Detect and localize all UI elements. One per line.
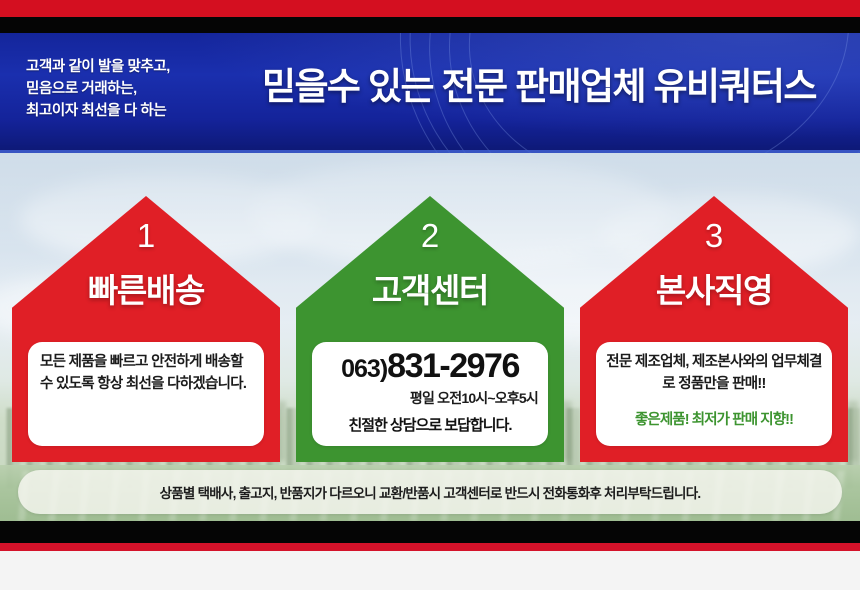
card-heading: 고객센터 — [296, 270, 564, 312]
phone-number[interactable]: 063)831-2976 — [312, 347, 548, 386]
card-highlight-text: 좋은제품! 최저가 판매 지향!! — [596, 408, 832, 429]
card-number: 1 — [12, 218, 280, 254]
card-number: 3 — [580, 218, 848, 254]
phone-area-code: 063) — [341, 355, 387, 383]
card-heading: 본사직영 — [580, 270, 848, 312]
card-reply-text: 친절한 상담으로 보답합니다. — [312, 414, 548, 435]
card-content-box: 모든 제품을 빠르고 안전하게 배송할 수 있도록 항상 최선을 다하겠습니다. — [28, 342, 264, 446]
notice-bar: 상품별 택배사, 출고지, 반품지가 다르오니 교환/반품시 고객센터로 반드시… — [18, 470, 842, 514]
phone-main-number: 831-2976 — [387, 347, 519, 385]
card-content-box: 전문 제조업체, 제조본사와의 업무체결로 정품만을 판매!! 좋은제품! 최저… — [596, 342, 832, 446]
card-number: 2 — [296, 218, 564, 254]
notice-text: 상품별 택배사, 출고지, 반품지가 다르오니 교환/반품시 고객센터로 반드시… — [18, 470, 842, 514]
bottom-padding — [0, 551, 860, 590]
feature-card-fast-delivery: 1 빠른배송 모든 제품을 빠르고 안전하게 배송할 수 있도록 항상 최선을 … — [12, 196, 280, 462]
card-body-text: 모든 제품을 빠르고 안전하게 배송할 수 있도록 항상 최선을 다하겠습니다. — [40, 351, 252, 395]
card-content-box: 063)831-2976 평일 오전10시~오후5시 친절한 상담으로 보답합니… — [312, 342, 548, 446]
bottom-red-stripe — [0, 543, 860, 551]
feature-card-direct-management: 3 본사직영 전문 제조업체, 제조본사와의 업무체결로 정품만을 판매!! 좋… — [580, 196, 848, 462]
slogan-line-2: 믿음으로 거래하는, — [26, 78, 256, 100]
slogan-line-3: 최고이자 최선을 다 하는 — [26, 100, 256, 122]
bottom-black-stripe — [0, 521, 860, 543]
slogan-block: 고객과 같이 발을 맞추고, 믿음으로 거래하는, 최고이자 최선을 다 하는 — [26, 56, 256, 122]
top-red-stripe — [0, 0, 860, 17]
top-black-stripe — [0, 17, 860, 33]
business-hours: 평일 오전10시~오후5시 — [312, 388, 538, 408]
promo-banner: 고객과 같이 발을 맞추고, 믿음으로 거래하는, 최고이자 최선을 다 하는 … — [0, 0, 860, 590]
card-body-text: 전문 제조업체, 제조본사와의 업무체결로 정품만을 판매!! — [602, 351, 826, 395]
card-heading: 빠른배송 — [12, 270, 280, 312]
slogan-line-1: 고객과 같이 발을 맞추고, — [26, 56, 256, 78]
feature-card-customer-center: 2 고객센터 063)831-2976 평일 오전10시~오후5시 친절한 상담… — [296, 196, 564, 462]
page-title: 믿을수 있는 전문 판매업체 유비쿼터스 — [262, 62, 852, 112]
